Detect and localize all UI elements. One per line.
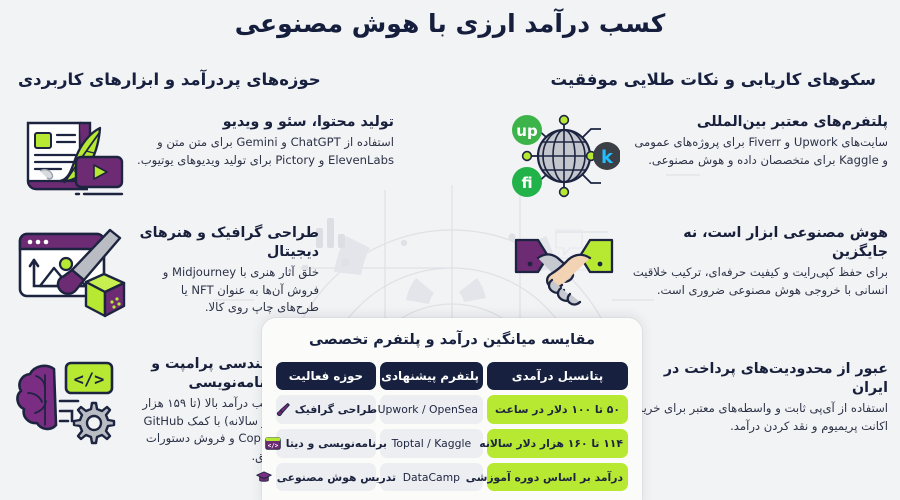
paintbrush-icon <box>275 402 290 417</box>
comparison-table: پتانسیل درآمدی پلتفرم پیشنهادی حوزه فعال… <box>272 357 632 496</box>
column-header-left: حوزه‌های پردرآمد و ابزارهای کاربردی <box>18 70 321 89</box>
brain-code-gear-icon: </> <box>14 355 118 451</box>
decor-bar-chart-icon <box>316 218 345 248</box>
block-body: برای حفظ کپی‌رایت و کیفیت حرفه‌ای، ترکیب… <box>630 264 888 299</box>
handshake-icon <box>508 224 620 310</box>
code-window-icon: </> <box>265 436 281 451</box>
block-title: طراحی گرافیک و هنرهای دیجیتال <box>136 224 319 262</box>
cell-domain: تدریس هوش مصنوعی <box>276 463 376 491</box>
block-title: مهندسی پرامپت و برنامه‌نویسی <box>128 355 279 393</box>
gear-icon <box>74 403 114 443</box>
block-prompt-engineering: مهندسی پرامپت و برنامه‌نویسی کسب درآمد ب… <box>14 355 279 466</box>
svg-text:fi: fi <box>521 174 532 192</box>
svg-text:</>: </> <box>74 370 105 390</box>
block-international-platforms: پلتفرم‌های معتبر بین‌المللی سایت‌های Upw… <box>508 113 888 199</box>
block-body: استفاده از ChatGPT و Gemini برای متن متن… <box>136 134 394 169</box>
cell-domain-label: برنامه‌نویسی و دیتا <box>286 437 387 450</box>
globe-network-icon: up fi k <box>508 113 620 199</box>
cell-domain: طراحی گرافیک <box>276 395 376 424</box>
comparison-table-card: مقایسه میانگین درآمد و پلتفرم تخصصی پتان… <box>262 318 642 500</box>
block-title: پلتفرم‌های معتبر بین‌المللی <box>630 113 888 132</box>
fiverr-logo-icon: fi <box>512 167 542 197</box>
cell-platform: Upwork / OpenSea <box>380 395 483 424</box>
column-header-right: سکوهای کاریابی و نکات طلایی موفقیت <box>551 70 876 89</box>
block-body: استفاده از آی‌پی ثابت و واسطه‌های معتبر … <box>630 400 888 435</box>
document-quill-video-icon <box>14 113 126 203</box>
cell-income: ۱۱۴ تا ۱۶۰ هزار دلار سالانه <box>487 429 628 458</box>
cell-domain-label: تدریس هوش مصنوعی <box>277 471 396 484</box>
cell-income: ۵۰ تا ۱۰۰ دلار در ساعت <box>487 395 628 424</box>
3d-cube-icon <box>86 274 124 316</box>
block-body: خلق آثار هنری با Midjourney و فروش آن‌ها… <box>136 264 319 317</box>
block-content-seo-video: تولید محتوا، سئو و ویدیو استفاده از Chat… <box>14 113 394 203</box>
table-title: مقایسه میانگین درآمد و پلتفرم تخصصی <box>272 332 632 348</box>
block-graphic-design: طراحی گرافیک و هنرهای دیجیتال خلق آثار ه… <box>14 224 319 318</box>
svg-text:up: up <box>516 122 538 140</box>
table-row: ۵۰ تا ۱۰۰ دلار در ساعت Upwork / OpenSea … <box>276 395 628 424</box>
decor-dots <box>302 233 516 271</box>
cell-platform: Toptal / Kaggle <box>380 429 483 458</box>
code-window-icon: </> <box>66 363 112 393</box>
cell-domain-label: طراحی گرافیک <box>295 403 377 416</box>
kaggle-logo-icon: k <box>593 142 620 170</box>
block-body: کسب درآمد بالا (تا ۱۵۹ هزار دلار سالانه)… <box>128 395 279 465</box>
block-ai-is-a-tool: هوش مصنوعی ابزار است، نه جایگزین برای حف… <box>508 224 888 310</box>
table-header-row: پتانسیل درآمدی پلتفرم پیشنهادی حوزه فعال… <box>276 362 628 390</box>
column-header-platform: پلتفرم پیشنهادی <box>380 362 483 390</box>
cell-income: درآمد بر اساس دوره آموزشی <box>487 463 628 491</box>
graduation-cap-icon <box>256 470 272 484</box>
svg-text:</>: </> <box>268 444 279 450</box>
block-body: سایت‌های Upwork و Fiverr برای پروژه‌های … <box>630 134 888 169</box>
table-row: ۱۱۴ تا ۱۶۰ هزار دلار سالانه Toptal / Kag… <box>276 429 628 458</box>
table-row: درآمد بر اساس دوره آموزشی DataCamp تدریس… <box>276 463 628 491</box>
svg-text:k: k <box>601 147 614 168</box>
page-title: کسب درآمد ارزی با هوش مصنوعی <box>0 8 900 40</box>
block-title: عبور از محدودیت‌های پرداخت در ایران <box>630 360 888 398</box>
brain-icon <box>17 366 56 429</box>
upwork-logo-icon: up <box>512 115 542 145</box>
column-header-domain: حوزه فعالیت <box>276 362 376 390</box>
cell-domain: برنامه‌نویسی و دیتا </> <box>276 429 376 458</box>
canvas-brush-cube-icon <box>14 224 126 318</box>
block-title: هوش مصنوعی ابزار است، نه جایگزین <box>630 224 888 262</box>
column-header-income: پتانسیل درآمدی <box>487 362 628 390</box>
block-title: تولید محتوا، سئو و ویدیو <box>136 113 394 132</box>
connector-lines <box>60 401 78 421</box>
